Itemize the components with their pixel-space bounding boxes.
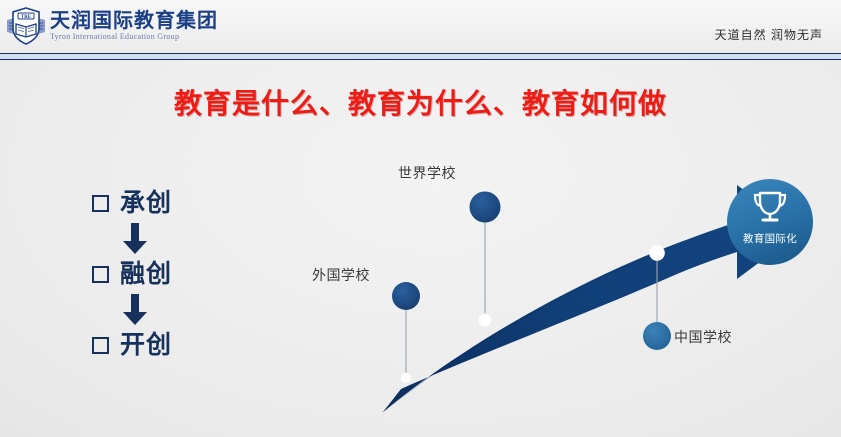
step-label: 融创 — [120, 262, 172, 287]
anchor-dot-world — [479, 314, 492, 327]
step-label: 承创 — [120, 191, 172, 216]
step-item-1[interactable]: 承创 — [92, 186, 222, 220]
step-item-2[interactable]: 融创 — [92, 257, 222, 291]
slide-canvas: TRE 天润国际教育集团 Tyron International Educati… — [0, 0, 841, 437]
goal-badge — [727, 179, 813, 265]
node-china — [643, 322, 671, 350]
node-label-china: 中国学校 — [674, 327, 732, 347]
header-divider — [0, 53, 841, 60]
down-arrow-icon-1 — [92, 220, 222, 257]
slide-title: 教育是什么、教育为什么、教育如何做 — [0, 82, 841, 122]
node-label-foreign: 外国学校 — [312, 265, 370, 285]
crest-icon: TRE — [6, 6, 46, 46]
node-label-world: 世界学校 — [398, 163, 456, 183]
svg-text:TRE: TRE — [21, 15, 32, 20]
brand-text: 天润国际教育集团 Tyron International Education G… — [50, 11, 218, 41]
brand-name-en: Tyron International Education Group — [50, 33, 218, 41]
anchor-dot-foreign — [401, 373, 411, 383]
steps-list: 承创 融创 开创 — [92, 186, 222, 362]
down-arrow-icon-2 — [92, 291, 222, 328]
arrow-shape — [383, 185, 800, 412]
anchor-dot-china — [649, 245, 665, 261]
goal-label: 教育国际化 — [726, 231, 814, 246]
checkbox-icon[interactable] — [92, 266, 109, 283]
slide-header: TRE 天润国际教育集团 Tyron International Educati… — [0, 0, 841, 53]
node-world — [470, 192, 501, 223]
brand-logo: TRE 天润国际教育集团 Tyron International Educati… — [6, 4, 218, 48]
step-item-3[interactable]: 开创 — [92, 328, 222, 362]
step-label: 开创 — [120, 333, 172, 358]
trophy-icon — [755, 193, 785, 220]
checkbox-icon[interactable] — [92, 195, 109, 212]
node-foreign — [392, 282, 420, 310]
header-tagline: 天道自然 润物无声 — [715, 26, 823, 43]
brand-name-cn: 天润国际教育集团 — [50, 11, 218, 31]
checkbox-icon[interactable] — [92, 337, 109, 354]
